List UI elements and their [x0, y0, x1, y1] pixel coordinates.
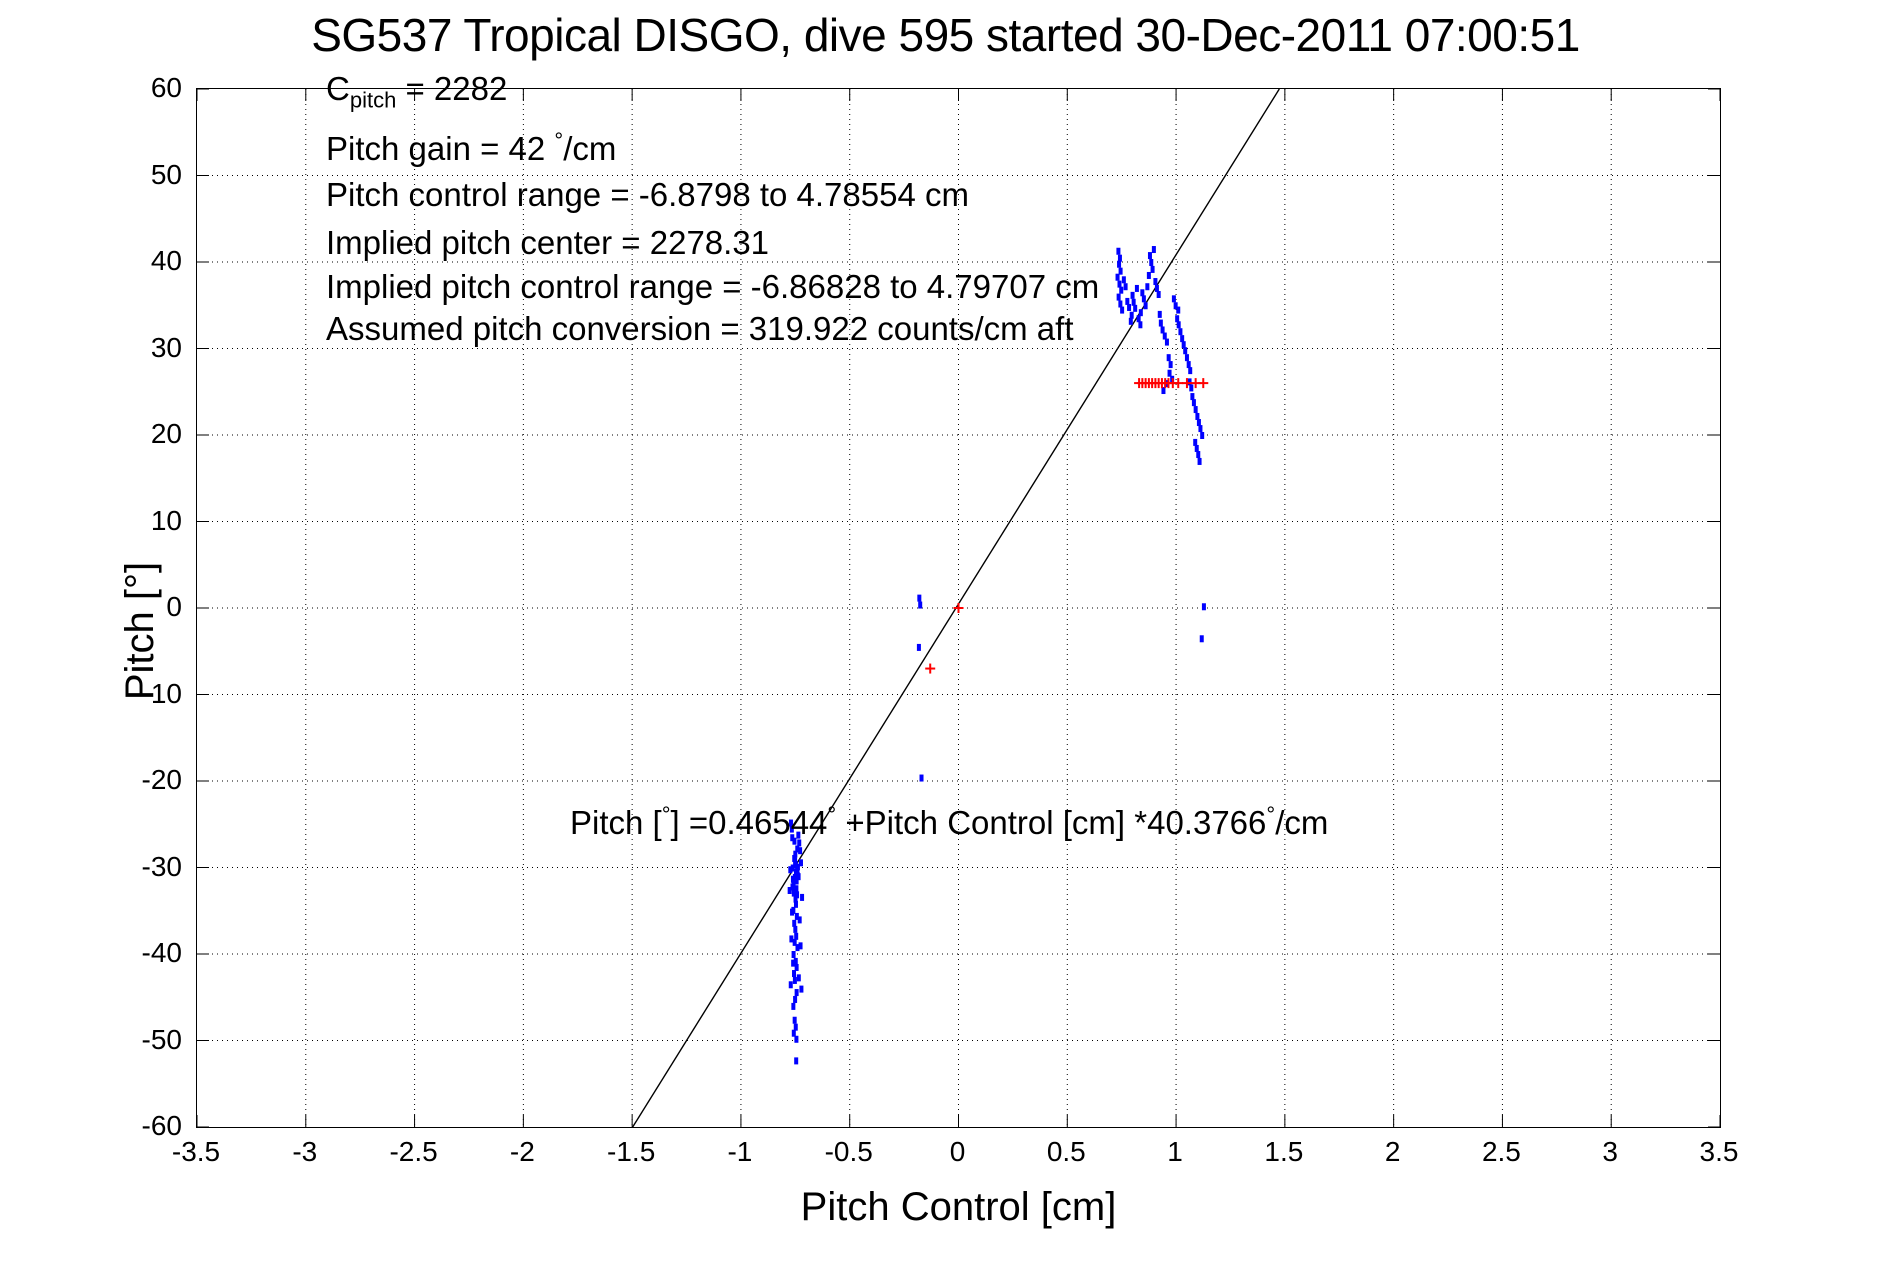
x-tick-label: -3: [245, 1136, 365, 1168]
x-tick-label: -2: [462, 1136, 582, 1168]
annotation-assumed-conversion: Assumed pitch conversion = 319.922 count…: [326, 312, 1074, 345]
annotation-pitch-control-range: Pitch control range = -6.8798 to 4.78554…: [326, 178, 969, 211]
equation-unit: /cm: [1275, 804, 1328, 841]
y-axis-label: Pitch [°]: [118, 0, 163, 1262]
c-pitch-symbol: C: [326, 70, 350, 107]
x-tick-label: -1: [680, 1136, 800, 1168]
annotation-implied-control-range: Implied pitch control range = -6.86828 t…: [326, 270, 1099, 303]
c-pitch-subscript: pitch: [350, 88, 396, 113]
figure-canvas: SG537 Tropical DISGO, dive 595 started 3…: [0, 0, 1891, 1262]
annotation-implied-pitch-center: Implied pitch center = 2278.31: [326, 226, 769, 259]
x-tick-label: -2.5: [354, 1136, 474, 1168]
x-tick-label: 1: [1115, 1136, 1235, 1168]
annotation-pitch-gain: Pitch gain = 42 °/cm: [326, 130, 616, 165]
annotation-c-pitch: Cpitch = 2282: [326, 72, 507, 112]
degree-symbol-icon: °: [554, 128, 563, 153]
equation-slope: +Pitch Control [cm] *40.3766: [836, 804, 1266, 841]
x-tick-label: -1.5: [571, 1136, 691, 1168]
x-axis-label: Pitch Control [cm]: [196, 1185, 1721, 1230]
equation-intercept: ] =0.46544: [671, 804, 828, 841]
pitch-gain-unit: /cm: [563, 130, 616, 167]
equation-prefix: Pitch [: [570, 804, 662, 841]
x-tick-label: 0.5: [1006, 1136, 1126, 1168]
data-series: [788, 246, 1209, 1064]
degree-symbol-icon: °: [1266, 802, 1275, 827]
x-tick-label: 3.5: [1659, 1136, 1779, 1168]
pitch-gain-text: Pitch gain = 42: [326, 130, 554, 167]
annotation-fit-equation: Pitch [°] =0.46544° +Pitch Control [cm] …: [570, 802, 1328, 842]
chart-title: SG537 Tropical DISGO, dive 595 started 3…: [0, 8, 1891, 62]
x-tick-label: 3: [1550, 1136, 1670, 1168]
degree-symbol-icon: °: [827, 802, 836, 827]
c-pitch-value: = 2282: [396, 70, 507, 107]
x-tick-label: 0: [898, 1136, 1018, 1168]
x-tick-label: 1.5: [1224, 1136, 1344, 1168]
y-axis-label-text: Pitch [°]: [118, 562, 162, 700]
x-tick-label: -0.5: [789, 1136, 909, 1168]
x-tick-label: 2.5: [1441, 1136, 1561, 1168]
x-tick-label: 2: [1333, 1136, 1453, 1168]
degree-symbol-icon: °: [662, 802, 671, 827]
